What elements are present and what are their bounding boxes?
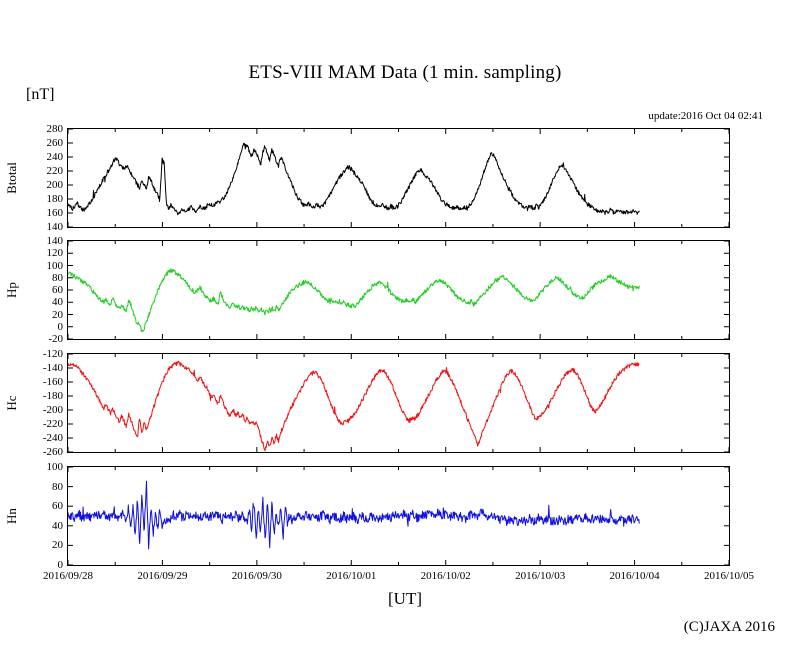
y-tick-label: 20 <box>52 309 67 321</box>
x-tick-label: 2016/10/04 <box>610 570 660 582</box>
plot-figure: ETS-VIII MAM Data (1 min. sampling) [nT]… <box>0 0 810 655</box>
plot-panel-hc <box>67 353 730 453</box>
update-timestamp: update:2016 Oct 04 02:41 <box>648 110 763 122</box>
y-tick-label: 0 <box>58 321 68 333</box>
y-tick-label: 100 <box>47 260 68 272</box>
y-tick-label: -220 <box>43 418 67 430</box>
y-tick-label: 120 <box>47 247 68 259</box>
x-axis-label: [UT] <box>0 589 810 609</box>
y-tick-label: 40 <box>52 296 67 308</box>
y-axis-label-hp: Hp <box>4 266 20 314</box>
data-trace-btotal <box>68 143 639 215</box>
y-tick-label: 60 <box>52 500 67 512</box>
y-tick-label: 260 <box>47 137 68 149</box>
y-tick-label: -140 <box>43 362 67 374</box>
x-tick-label: 2016/10/05 <box>704 570 754 582</box>
y-tick-label: -160 <box>43 376 67 388</box>
plot-panel-btotal <box>67 128 730 228</box>
y-tick-label: -180 <box>43 390 67 402</box>
y-tick-label: 200 <box>47 179 68 191</box>
unit-label: [nT] <box>26 86 54 104</box>
x-tick-label: 2016/10/01 <box>326 570 376 582</box>
y-tick-label: 220 <box>47 165 68 177</box>
y-tick-label: 80 <box>52 481 67 493</box>
y-tick-label: 100 <box>47 461 68 473</box>
data-trace-hn <box>68 481 639 549</box>
y-tick-label: -200 <box>43 404 67 416</box>
x-tick-label: 2016/09/29 <box>137 570 187 582</box>
x-tick-label: 2016/09/30 <box>232 570 282 582</box>
plot-panel-hn <box>67 466 730 566</box>
y-tick-label: -120 <box>43 348 67 360</box>
y-tick-label: 20 <box>52 539 67 551</box>
axis-ticks <box>68 241 729 339</box>
y-tick-label: 280 <box>47 123 68 135</box>
x-tick-label: 2016/09/28 <box>43 570 93 582</box>
y-tick-label: 140 <box>47 221 68 233</box>
y-tick-label: -240 <box>43 432 67 444</box>
y-axis-label-btotal: Btotal <box>4 154 20 202</box>
y-tick-label: -260 <box>43 446 67 458</box>
y-tick-label: 180 <box>47 193 68 205</box>
axis-ticks <box>68 354 729 452</box>
y-tick-label: 140 <box>47 235 68 247</box>
data-trace-hc <box>68 361 639 451</box>
y-tick-label: 60 <box>52 284 67 296</box>
copyright-credit: (C)JAXA 2016 <box>684 619 775 636</box>
y-tick-label: 160 <box>47 207 68 219</box>
y-tick-label: -20 <box>48 333 67 345</box>
figure-title: ETS-VIII MAM Data (1 min. sampling) <box>0 62 810 84</box>
y-tick-label: 40 <box>52 520 67 532</box>
y-axis-label-hc: Hc <box>4 379 20 427</box>
x-tick-label: 2016/10/03 <box>515 570 565 582</box>
data-trace-hp <box>68 269 639 332</box>
y-axis-label-hn: Hn <box>4 492 20 540</box>
plot-panel-hp <box>67 240 730 340</box>
y-tick-label: 240 <box>47 151 68 163</box>
x-tick-label: 2016/10/02 <box>421 570 471 582</box>
y-tick-label: 80 <box>52 272 67 284</box>
